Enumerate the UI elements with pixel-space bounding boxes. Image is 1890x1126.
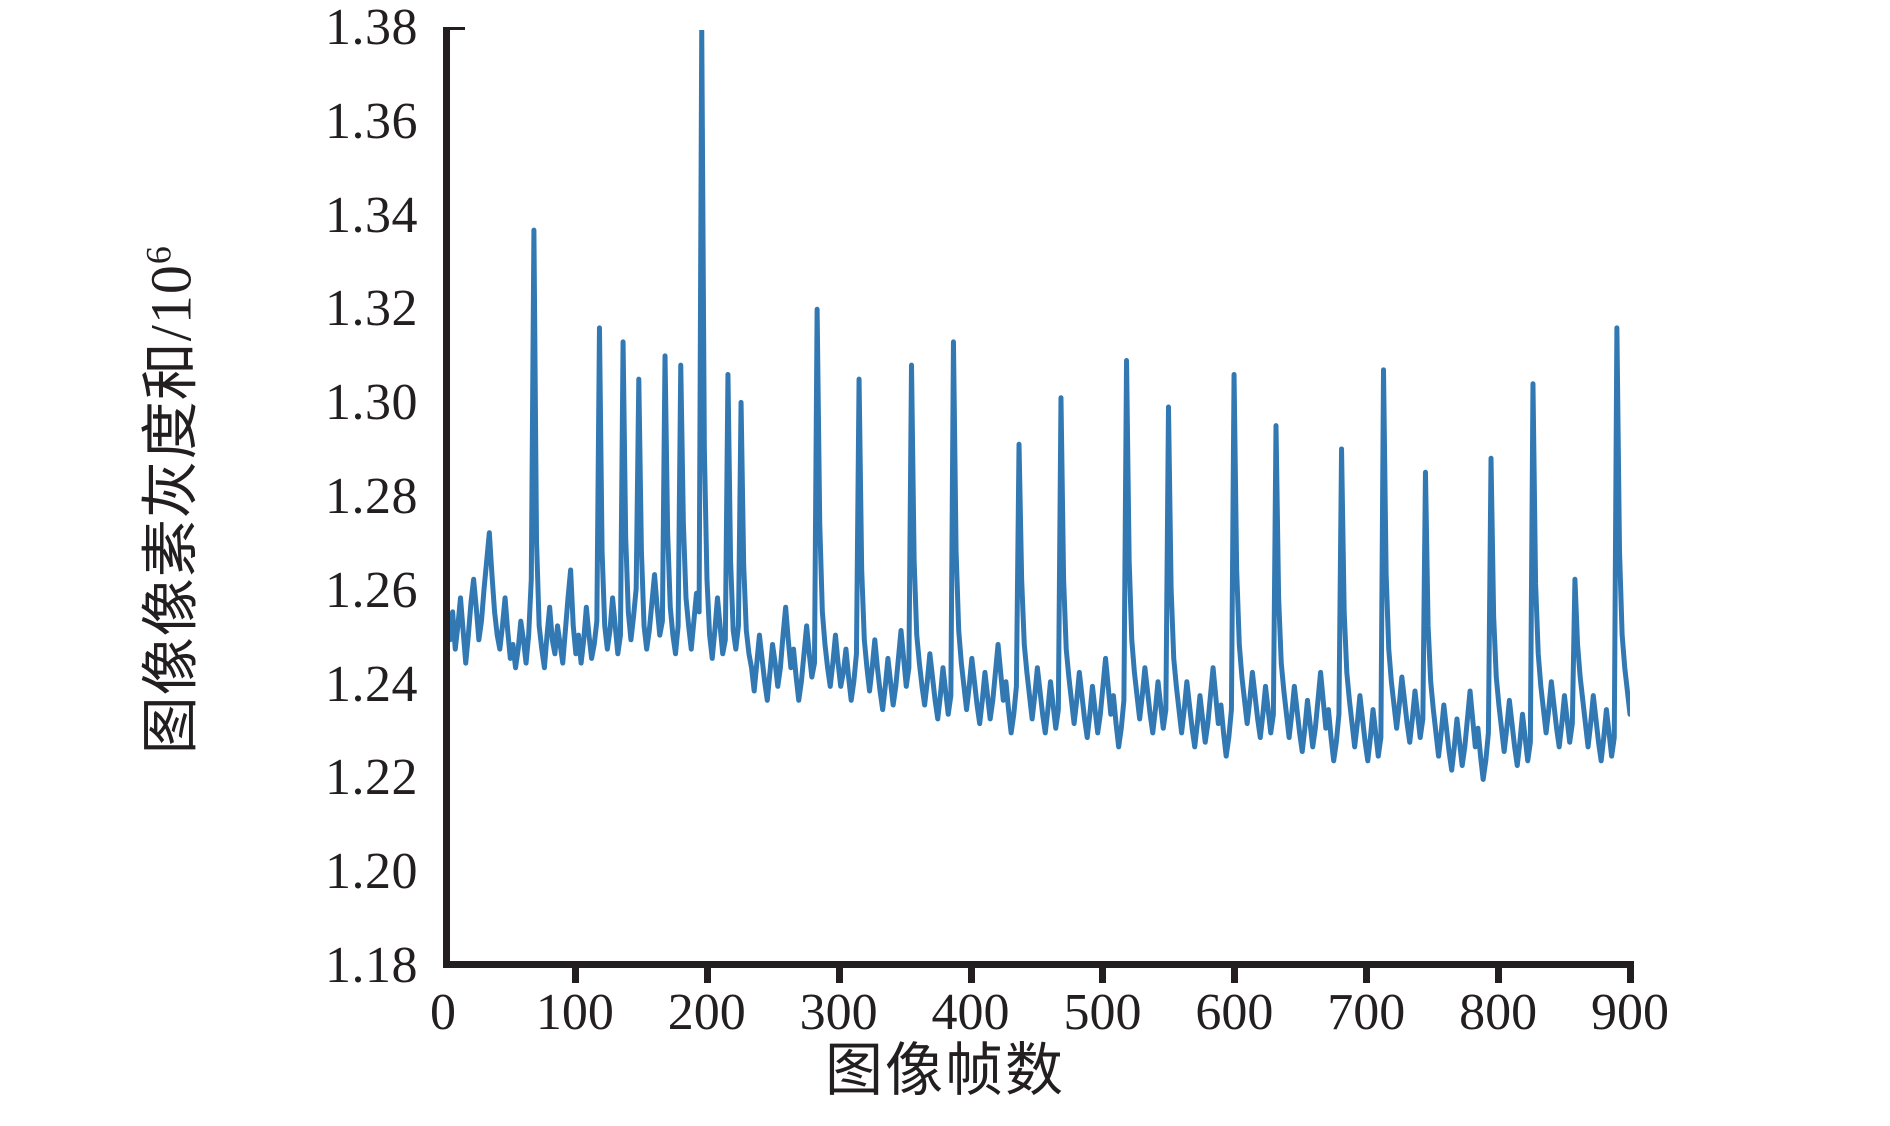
y-tick-label: 1.32 (118, 283, 418, 335)
x-axis-label: 图像帧数 (0, 1040, 1890, 1102)
x-tick-label: 900 (1530, 985, 1730, 1041)
y-axis-label-exponent: 6 (138, 245, 178, 264)
y-tick-label: 1.22 (118, 752, 418, 804)
chart-figure: 1.181.201.221.241.261.281.301.321.341.36… (0, 0, 1890, 1126)
y-tick-label: 1.20 (118, 846, 418, 898)
y-tick-label: 1.38 (118, 2, 418, 54)
plot-area (443, 30, 1630, 968)
x-tick-mark (1363, 961, 1370, 983)
x-tick-mark (1231, 961, 1238, 983)
series-line-chart (450, 30, 1630, 961)
y-tick-label: 1.28 (118, 471, 418, 523)
y-tick-label: 1.36 (118, 96, 418, 148)
x-tick-mark (1627, 961, 1634, 983)
y-tick-label: 1.26 (118, 565, 418, 617)
y-tick-label: 1.34 (118, 190, 418, 242)
x-tick-mark (1099, 961, 1106, 983)
x-tick-mark (1495, 961, 1502, 983)
series-polyline (450, 30, 1630, 779)
x-tick-mark (572, 961, 579, 983)
y-tick-label: 1.24 (118, 659, 418, 711)
x-tick-mark (704, 961, 711, 983)
x-tick-mark (968, 961, 975, 983)
y-tick-label: 1.30 (118, 377, 418, 429)
x-tick-mark (836, 961, 843, 983)
